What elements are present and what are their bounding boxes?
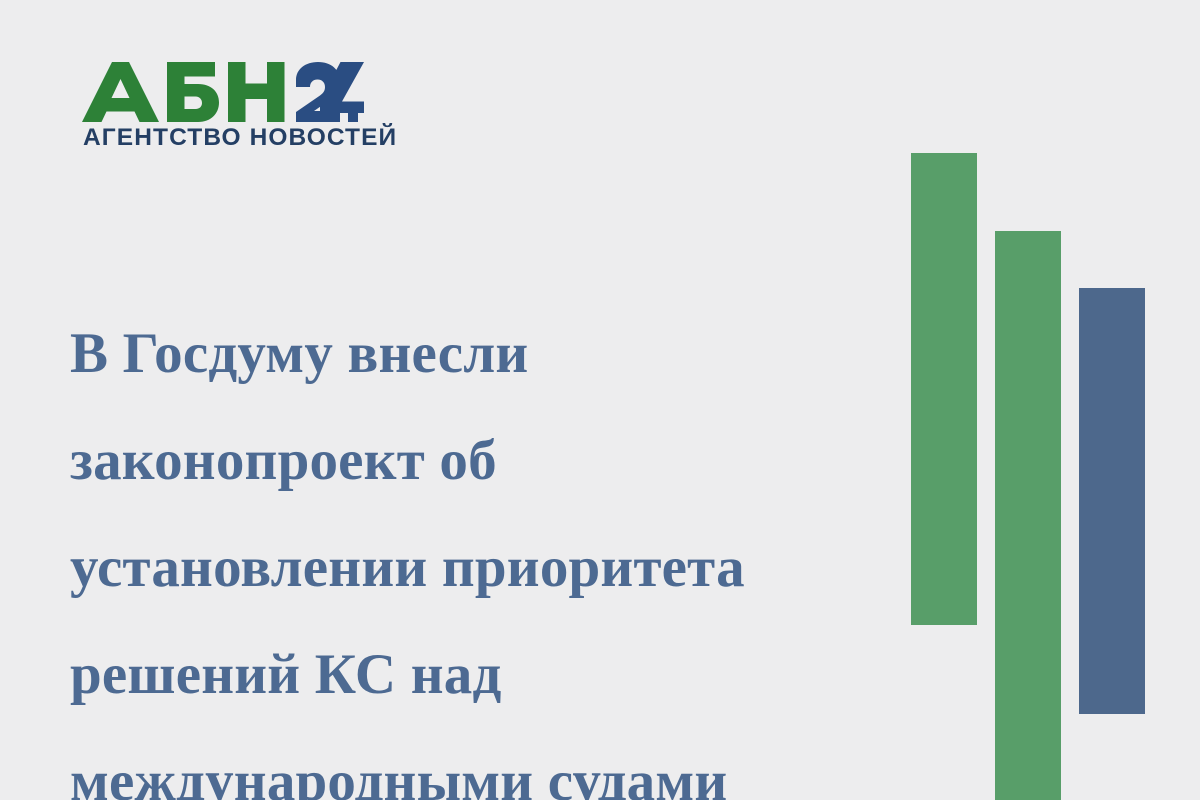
abn24-logo[interactable]: АГЕНТСТВО НОВОСТЕЙ [82,62,382,162]
news-card: АГЕНТСТВО НОВОСТЕЙ В Госдуму внесли зако… [0,0,1200,800]
headline-line-4: решений КС над [70,621,870,728]
logo-tagline: АГЕНТСТВО НОВОСТЕЙ [83,126,397,151]
chart-bar-1 [911,153,977,625]
chart-bar-2 [995,231,1061,800]
headline-line-5: международными судами [70,728,870,800]
chart-bar-3 [1079,288,1145,714]
headline-line-1: В Госдуму внесли [70,300,870,407]
abn24-wordmark-icon [82,62,364,122]
headline-line-2: законопроект об [70,407,870,514]
headline-line-3: установлении приоритета [70,514,870,621]
headline: В Госдуму внесли законопроект об установ… [70,300,870,800]
